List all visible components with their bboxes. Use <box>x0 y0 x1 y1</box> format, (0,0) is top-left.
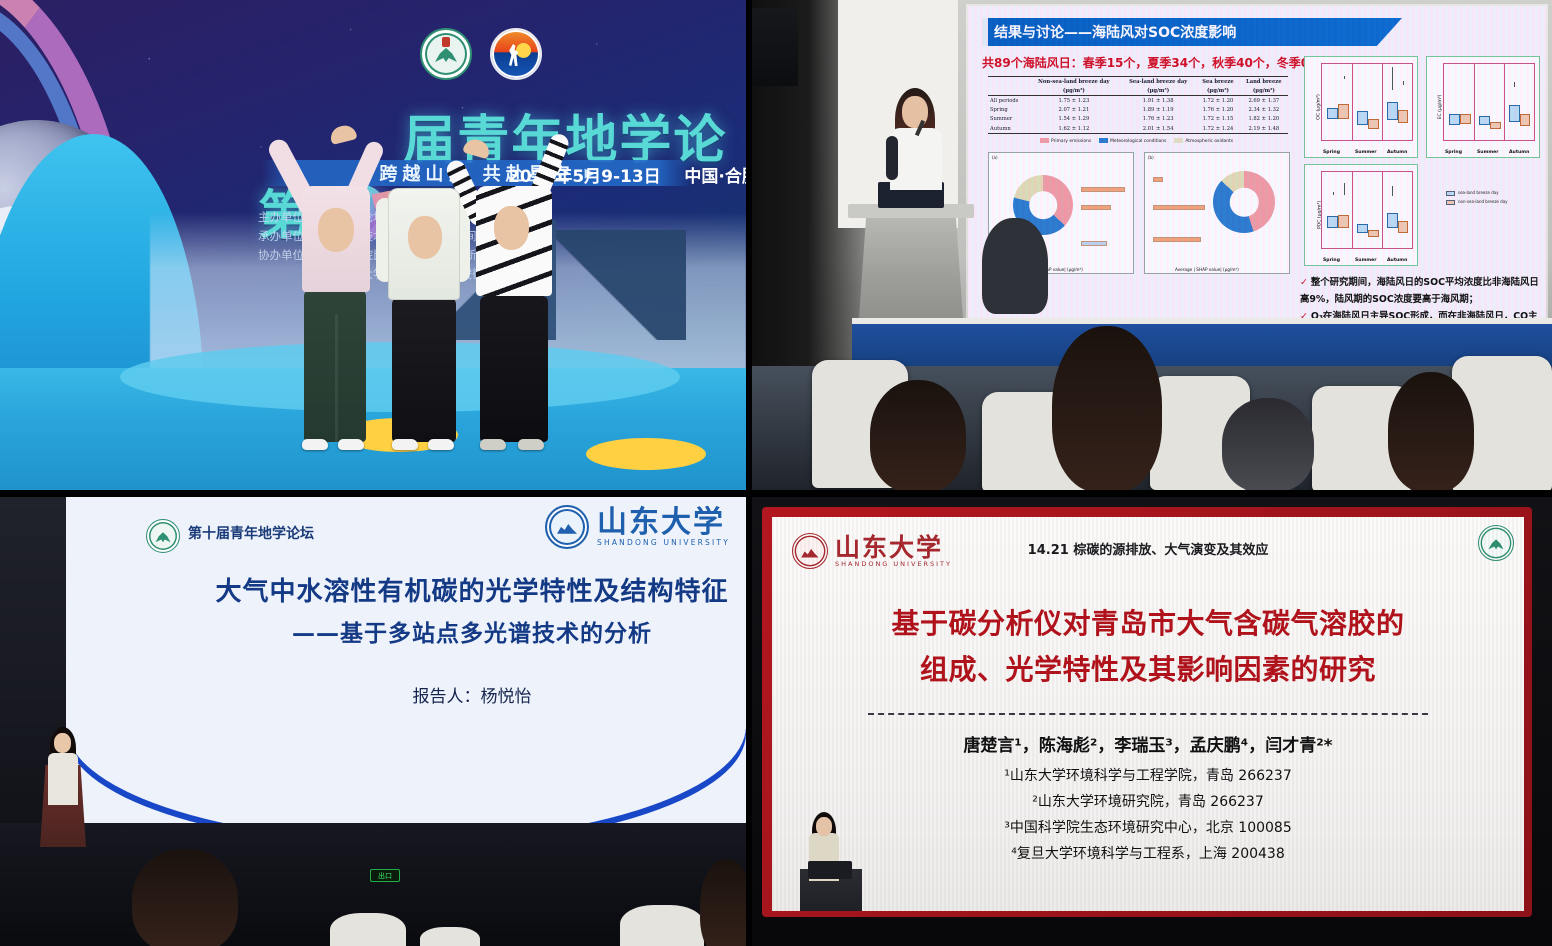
slide-title-line1: 基于碳分析仪对青岛市大气含碳气溶胶的 <box>812 601 1484 647</box>
boxplot-legend: sea-land breeze day non-sea-land breeze … <box>1446 188 1508 206</box>
boxplot-poc-xtick: Summer <box>1355 258 1377 263</box>
table-col-head: Land breeze <box>1240 77 1288 87</box>
table-cell: 2.01 ± 1.54 <box>1120 124 1196 134</box>
table-col-head <box>988 77 1028 87</box>
legend-label: Primary emissions <box>1051 139 1091 144</box>
affiliation-line: ²山东大学环境研究院，青岛 266237 <box>772 789 1524 815</box>
podium-laptop <box>808 861 852 879</box>
legend-item: Meteorological conditions <box>1099 138 1166 144</box>
slide-title-block: 基于碳分析仪对青岛市大气含碳气溶胶的 组成、光学特性及其影响因素的研究 <box>812 601 1484 693</box>
slide-title-line2: 组成、光学特性及其影响因素的研究 <box>812 647 1484 693</box>
boxplot-poc-xtick: Spring <box>1323 258 1340 263</box>
table-cell: 1.72 ± 1.20 <box>1196 96 1239 106</box>
soc-statistics-table: Non-sea-land breeze day Sea-land breeze … <box>988 76 1288 134</box>
table-col-unit <box>988 86 1028 96</box>
table-col-unit: (µg/m³) <box>1028 86 1120 96</box>
collage-gutter-horizontal <box>0 490 1552 497</box>
boxplot-oc-xtick: Summer <box>1355 150 1377 155</box>
sdu-name-en: SHANDONG UNIVERSITY <box>835 560 952 568</box>
slide-red-headline: 共89个海陆风日：春季15个，夏季34个，秋季40个，冬季0个 <box>982 54 1321 71</box>
projection-screen-carbon: 山东大学 SHANDONG UNIVERSITY 14.21 棕碳的源排放、大气… <box>772 517 1524 911</box>
audience-chair <box>330 913 406 946</box>
legend-item: Atmospheric oxidants <box>1174 138 1233 144</box>
shandong-university-logo: 山东大学 SHANDONG UNIVERSITY <box>545 505 730 549</box>
audience-head <box>700 859 746 946</box>
conference-logos <box>420 28 542 80</box>
slide-title-line1: 大气中水溶性有机碳的光学特性及结构特征 <box>132 571 746 608</box>
author-list: 唐楚言¹，陈海彪²，李瑞玉³，孟庆鹏⁴，闫才青²* <box>772 731 1524 756</box>
boxplot-poc: POC (µg/m³) Spring Summ <box>1304 164 1418 266</box>
audience-head <box>1222 398 1314 490</box>
table-cell: 1.75 ± 1.23 <box>1028 96 1120 106</box>
shap-legend: Primary emissions Meteorological conditi… <box>1040 138 1233 144</box>
legend-label: Meteorological conditions <box>1110 139 1166 144</box>
boxplot-ec: EC (µg/m³) Spring Summe <box>1426 56 1540 158</box>
table-cell: 1.82 ± 1.20 <box>1240 115 1288 124</box>
sdu-name-cn: 山东大学 <box>597 508 730 538</box>
boxplot-oc-xtick: Autumn <box>1387 150 1407 155</box>
presenter-line: 报告人：杨悦怡 <box>132 679 746 715</box>
forum-label: 第十届青年地学论坛 <box>188 523 314 543</box>
affiliation-line: ³中国科学院生态环境研究中心，北京 100085 <box>772 815 1524 841</box>
table-cell: 1.89 ± 1.19 <box>1120 106 1196 115</box>
sdu-name-en: SHANDONG UNIVERSITY <box>597 538 730 547</box>
table-unit-row: (µg/m³) (µg/m³) (µg/m³) (µg/m³) <box>988 86 1288 96</box>
boxplot-ec-xtick: Spring <box>1445 150 1462 155</box>
table-cell: All periods <box>988 96 1028 106</box>
table-col-head: Non-sea-land breeze day <box>1028 77 1120 87</box>
presenter-head <box>816 817 832 836</box>
boxplot-oc: OC (µg/m³) Spring Summe <box>1304 56 1418 158</box>
sdu-seal-icon <box>545 505 589 549</box>
title-divider <box>868 713 1428 715</box>
table-cell: 2.34 ± 1.32 <box>1240 106 1288 115</box>
table-header-row: Non-sea-land breeze day Sea-land breeze … <box>988 77 1288 87</box>
legend-label: non-sea-land breeze day <box>1458 199 1508 204</box>
panel-slide-wsoc-optical: 第十届青年地学论坛 山东大学 SHANDONG UNIVERSITY 大气中水溶… <box>0 497 746 946</box>
panel-speaker-presentation-soc: 结果与讨论——海陆风对SOC浓度影响 共89个海陆风日：春季15个，夏季34个，… <box>752 0 1552 490</box>
exit-sign: 出口 <box>370 869 400 882</box>
table-cell: Spring <box>988 106 1028 115</box>
forum-emblem-icon <box>1478 525 1514 561</box>
audience-head <box>1388 372 1474 490</box>
affiliation-line: ¹山东大学环境科学与工程学院，青岛 266237 <box>772 763 1524 789</box>
session-label: 14.21 棕碳的源排放、大气演变及其效应 <box>772 539 1524 558</box>
slide-title-block: 大气中水溶性有机碳的光学特性及结构特征 ——基于多站点多光谱技术的分析 <box>132 571 746 648</box>
table-row: Summer 1.54 ± 1.29 1.76 ± 1.23 1.72 ± 1.… <box>988 115 1288 124</box>
table-col-unit: (µg/m³) <box>1120 86 1196 96</box>
table-col-head: Sea-land breeze day <box>1120 77 1196 87</box>
presenter-body <box>48 753 78 805</box>
speaker-body <box>890 128 942 190</box>
table-cell: Autumn <box>988 124 1028 134</box>
audience-chair <box>620 905 704 946</box>
forum-emblem-icon <box>146 519 180 553</box>
audience-chair <box>420 927 480 946</box>
pa-speaker-box <box>752 8 798 86</box>
audience-head <box>870 380 966 490</box>
boxplot-poc-xtick: Autumn <box>1387 258 1407 263</box>
table-row: Spring 2.07 ± 1.21 1.89 ± 1.19 1.76 ± 1.… <box>988 106 1288 115</box>
conclusion-text: 整个研究期间，海陆风日的SOC平均浓度比非海陆风日高9%，陆风期的SOC浓度要高… <box>1300 277 1539 305</box>
ustc-earth-space-emblem-icon <box>490 28 542 80</box>
stage-decor-dot <box>586 438 706 470</box>
affiliation-line: ⁴复旦大学环境科学与工程系，上海 200438 <box>772 841 1524 867</box>
legend-item: Primary emissions <box>1040 138 1091 144</box>
table-row: All periods 1.75 ± 1.23 1.91 ± 1.38 1.72… <box>988 96 1288 106</box>
table-cell: 1.54 ± 1.29 <box>1028 115 1120 124</box>
shap-panel-b: (b) Average | SHAP value| (µg/m³) <box>1144 152 1290 274</box>
table-cell: 2.07 ± 1.21 <box>1028 106 1120 115</box>
person-right <box>466 150 562 442</box>
table-col-unit: (µg/m³) <box>1240 86 1288 96</box>
table-col-unit: (µg/m³) <box>1196 86 1239 96</box>
table-cell: 1.72 ± 1.15 <box>1196 115 1239 124</box>
table-row: Autumn 1.62 ± 1.12 2.01 ± 1.54 1.72 ± 1.… <box>988 124 1288 134</box>
table-cell: Summer <box>988 115 1028 124</box>
person-left <box>290 152 380 442</box>
table-cell: 1.91 ± 1.38 <box>1120 96 1196 106</box>
table-cell: 2.19 ± 1.48 <box>1240 124 1288 134</box>
table-skirt <box>852 324 1552 368</box>
person-middle <box>378 156 470 442</box>
shap-axis-label: Average | SHAP value| (µg/m³) <box>1175 267 1239 272</box>
panel-slide-carbon-aerosol: 山东大学 SHANDONG UNIVERSITY 14.21 棕碳的源排放、大气… <box>752 497 1552 946</box>
panel-label-b: (b) <box>1148 155 1154 160</box>
legend-item: sea-land breeze day <box>1446 188 1508 197</box>
table-col-head: Sea breeze <box>1196 77 1239 87</box>
slide-title-line2: ——基于多站点多光谱技术的分析 <box>132 614 746 648</box>
projection-screen-soc: 结果与讨论——海陆风对SOC浓度影响 共89个海陆风日：春季15个，夏季34个，… <box>968 6 1546 358</box>
table-cell: 2.69 ± 1.37 <box>1240 96 1288 106</box>
conclusion-bullet: ✓整个研究期间，海陆风日的SOC平均浓度比非海陆风日高9%，陆风期的SOC浓度要… <box>1300 274 1546 308</box>
slide-title: 结果与讨论——海陆风对SOC浓度影响 <box>982 22 1236 42</box>
boxplot-oc-xtick: Spring <box>1323 150 1340 155</box>
youth-geoscience-forum-emblem-icon <box>420 28 472 80</box>
podium <box>858 212 964 332</box>
table-cell: 1.72 ± 1.24 <box>1196 124 1239 134</box>
panel-conference-backdrop-group-photo: 第 届青年地学论坛 ◀ 跨越山海 共赴星空 ▶ 2025年5月9-13日 中国·… <box>0 0 746 490</box>
legend-item: non-sea-land breeze day <box>1446 197 1508 206</box>
affiliation-list: ¹山东大学环境科学与工程学院，青岛 266237 ²山东大学环境研究院，青岛 2… <box>772 763 1524 867</box>
audience-head <box>1052 326 1162 490</box>
photographer <box>982 218 1048 314</box>
photo-collage: 第 届青年地学论坛 ◀ 跨越山海 共赴星空 ▶ 2025年5月9-13日 中国·… <box>0 0 1552 946</box>
slide-title-bar: 结果与讨论——海陆风对SOC浓度影响 <box>982 18 1402 46</box>
donut-chart-b <box>1213 171 1275 233</box>
panel-label-a: (a) <box>992 155 998 160</box>
legend-label: Atmospheric oxidants <box>1185 139 1233 144</box>
banner-location: 中国·合肥 <box>684 167 746 187</box>
presenter-head <box>54 733 71 753</box>
audience-head <box>132 849 238 946</box>
legend-label: sea-land breeze day <box>1458 190 1499 195</box>
table-cell: 1.76 ± 1.23 <box>1120 115 1196 124</box>
boxplot-ec-xtick: Summer <box>1477 150 1499 155</box>
boxplot-ec-xtick: Autumn <box>1509 150 1529 155</box>
table-cell: 1.62 ± 1.12 <box>1028 124 1120 134</box>
table-cell: 1.76 ± 1.20 <box>1196 106 1239 115</box>
